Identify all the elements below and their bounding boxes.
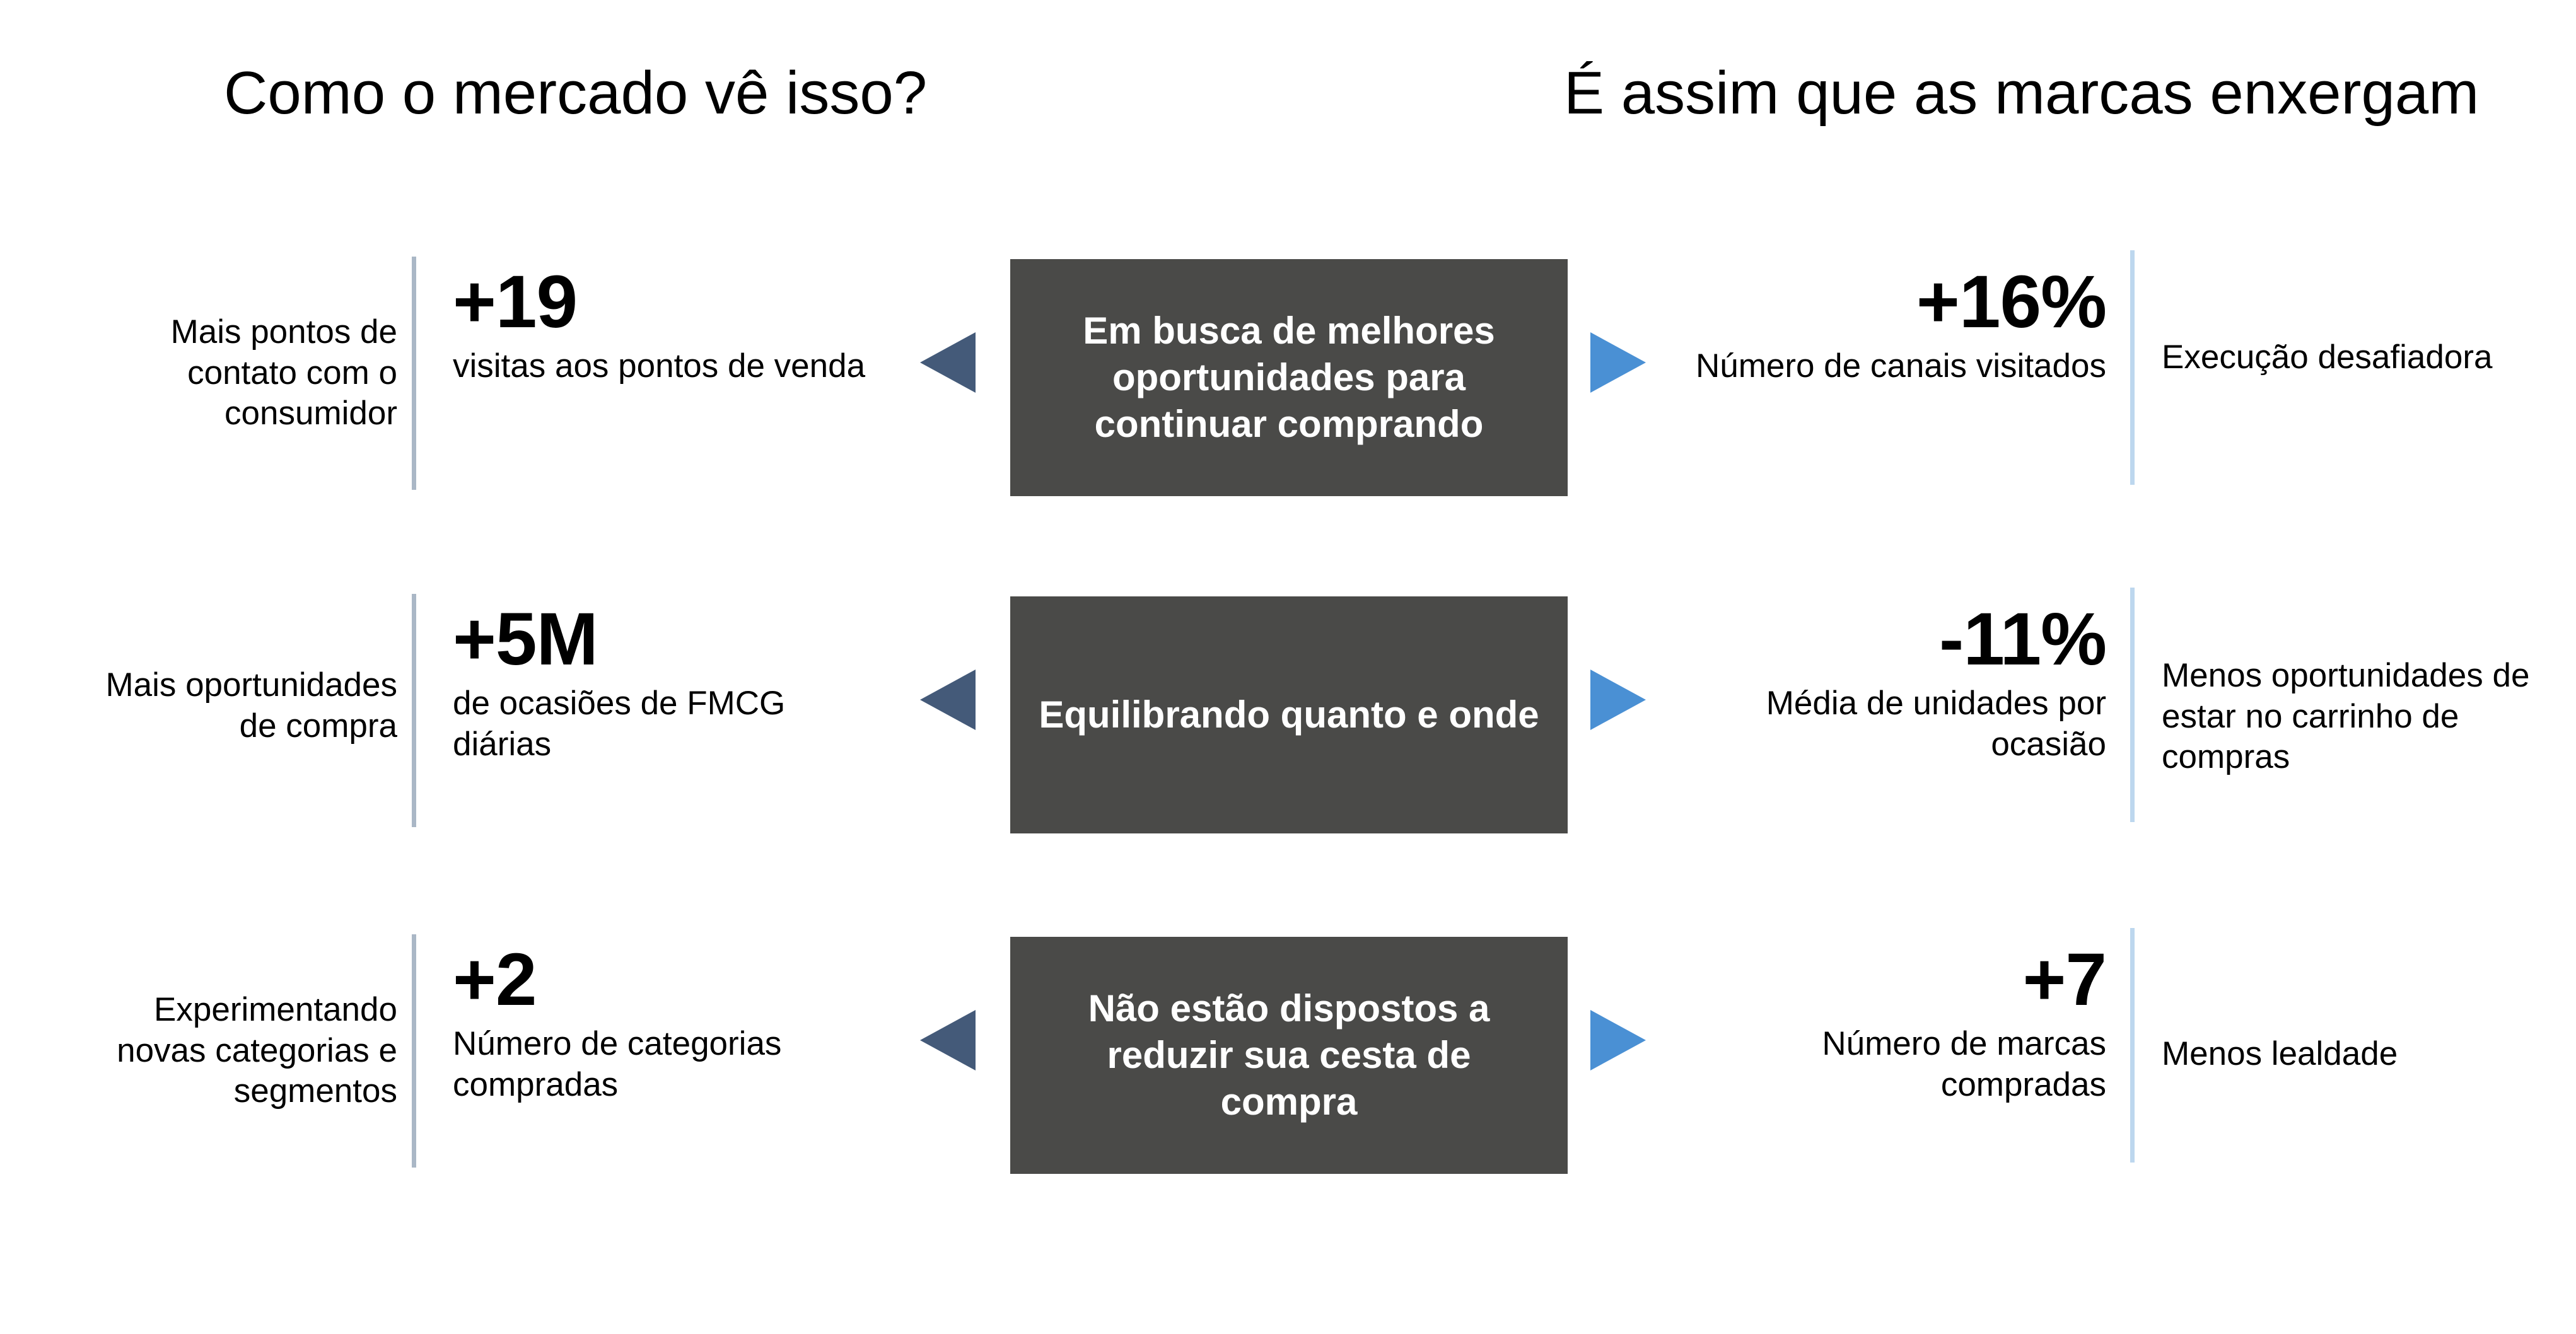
left-stat-block: +19 visitas aos pontos de venda bbox=[453, 260, 869, 387]
row-right-description: Menos lealdade bbox=[2162, 1034, 2565, 1075]
comparison-row: Mais oportunidades de compra +5M de ocas… bbox=[0, 580, 2576, 857]
right-stat-caption: Número de canais visitados bbox=[1665, 346, 2106, 387]
divider-left bbox=[412, 594, 416, 827]
row-left-description: Experimentando novas categorias e segmen… bbox=[76, 990, 397, 1112]
right-stat-block: -11% Média de unidades por ocasião bbox=[1665, 598, 2106, 765]
left-stat-value: +2 bbox=[453, 938, 869, 1021]
left-stat-block: +2 Número de categorias compradas bbox=[453, 938, 869, 1105]
center-insight-text: Não estão dispostos a reduzir sua cesta … bbox=[1034, 985, 1544, 1125]
left-stat-caption: Número de categorias compradas bbox=[453, 1024, 869, 1105]
center-insight-box: Em busca de melhores oportunidades para … bbox=[1010, 259, 1568, 496]
right-stat-block: +16% Número de canais visitados bbox=[1665, 260, 2106, 387]
comparison-row: Experimentando novas categorias e segmen… bbox=[0, 920, 2576, 1198]
center-insight-text: Em busca de melhores oportunidades para … bbox=[1034, 308, 1544, 447]
center-insight-box: Não estão dispostos a reduzir sua cesta … bbox=[1010, 937, 1568, 1174]
right-stat-block: +7 Número de marcas compradas bbox=[1665, 938, 2106, 1105]
row-left-description: Mais oportunidades de compra bbox=[76, 665, 397, 746]
left-stat-value: +19 bbox=[453, 260, 869, 344]
comparison-row: Mais pontos de contato com o consumidor … bbox=[0, 243, 2576, 520]
left-stat-caption: visitas aos pontos de venda bbox=[453, 346, 869, 387]
arrow-left-icon bbox=[920, 1010, 976, 1070]
right-stat-caption: Média de unidades por ocasião bbox=[1665, 683, 2106, 765]
right-stat-value: +7 bbox=[1665, 938, 2106, 1021]
divider-left bbox=[412, 934, 416, 1168]
infographic-canvas: Como o mercado vê isso? É assim que as m… bbox=[0, 0, 2576, 1334]
divider-right bbox=[2130, 928, 2135, 1163]
right-stat-value: +16% bbox=[1665, 260, 2106, 344]
divider-right bbox=[2130, 250, 2135, 485]
right-stat-value: -11% bbox=[1665, 598, 2106, 681]
arrow-left-icon bbox=[920, 670, 976, 730]
arrow-right-icon bbox=[1590, 1010, 1646, 1070]
center-insight-box: Equilibrando quanto e onde bbox=[1010, 596, 1568, 833]
row-right-description: Execução desafiadora bbox=[2162, 337, 2565, 378]
row-right-description: Menos oportunidades de estar no carrinho… bbox=[2162, 656, 2565, 778]
center-insight-text: Equilibrando quanto e onde bbox=[1039, 692, 1539, 738]
left-stat-value: +5M bbox=[453, 598, 869, 681]
arrow-right-icon bbox=[1590, 332, 1646, 393]
arrow-right-icon bbox=[1590, 670, 1646, 730]
left-stat-block: +5M de ocasiões de FMCG diárias bbox=[453, 598, 869, 765]
page-title-right: É assim que as marcas enxergam bbox=[1564, 60, 2479, 127]
row-left-description: Mais pontos de contato com o consumidor bbox=[76, 312, 397, 434]
divider-left bbox=[412, 257, 416, 490]
page-title-left: Como o mercado vê isso? bbox=[224, 60, 927, 127]
left-stat-caption: de ocasiões de FMCG diárias bbox=[453, 683, 869, 765]
divider-right bbox=[2130, 588, 2135, 822]
right-stat-caption: Número de marcas compradas bbox=[1665, 1024, 2106, 1105]
arrow-left-icon bbox=[920, 332, 976, 393]
